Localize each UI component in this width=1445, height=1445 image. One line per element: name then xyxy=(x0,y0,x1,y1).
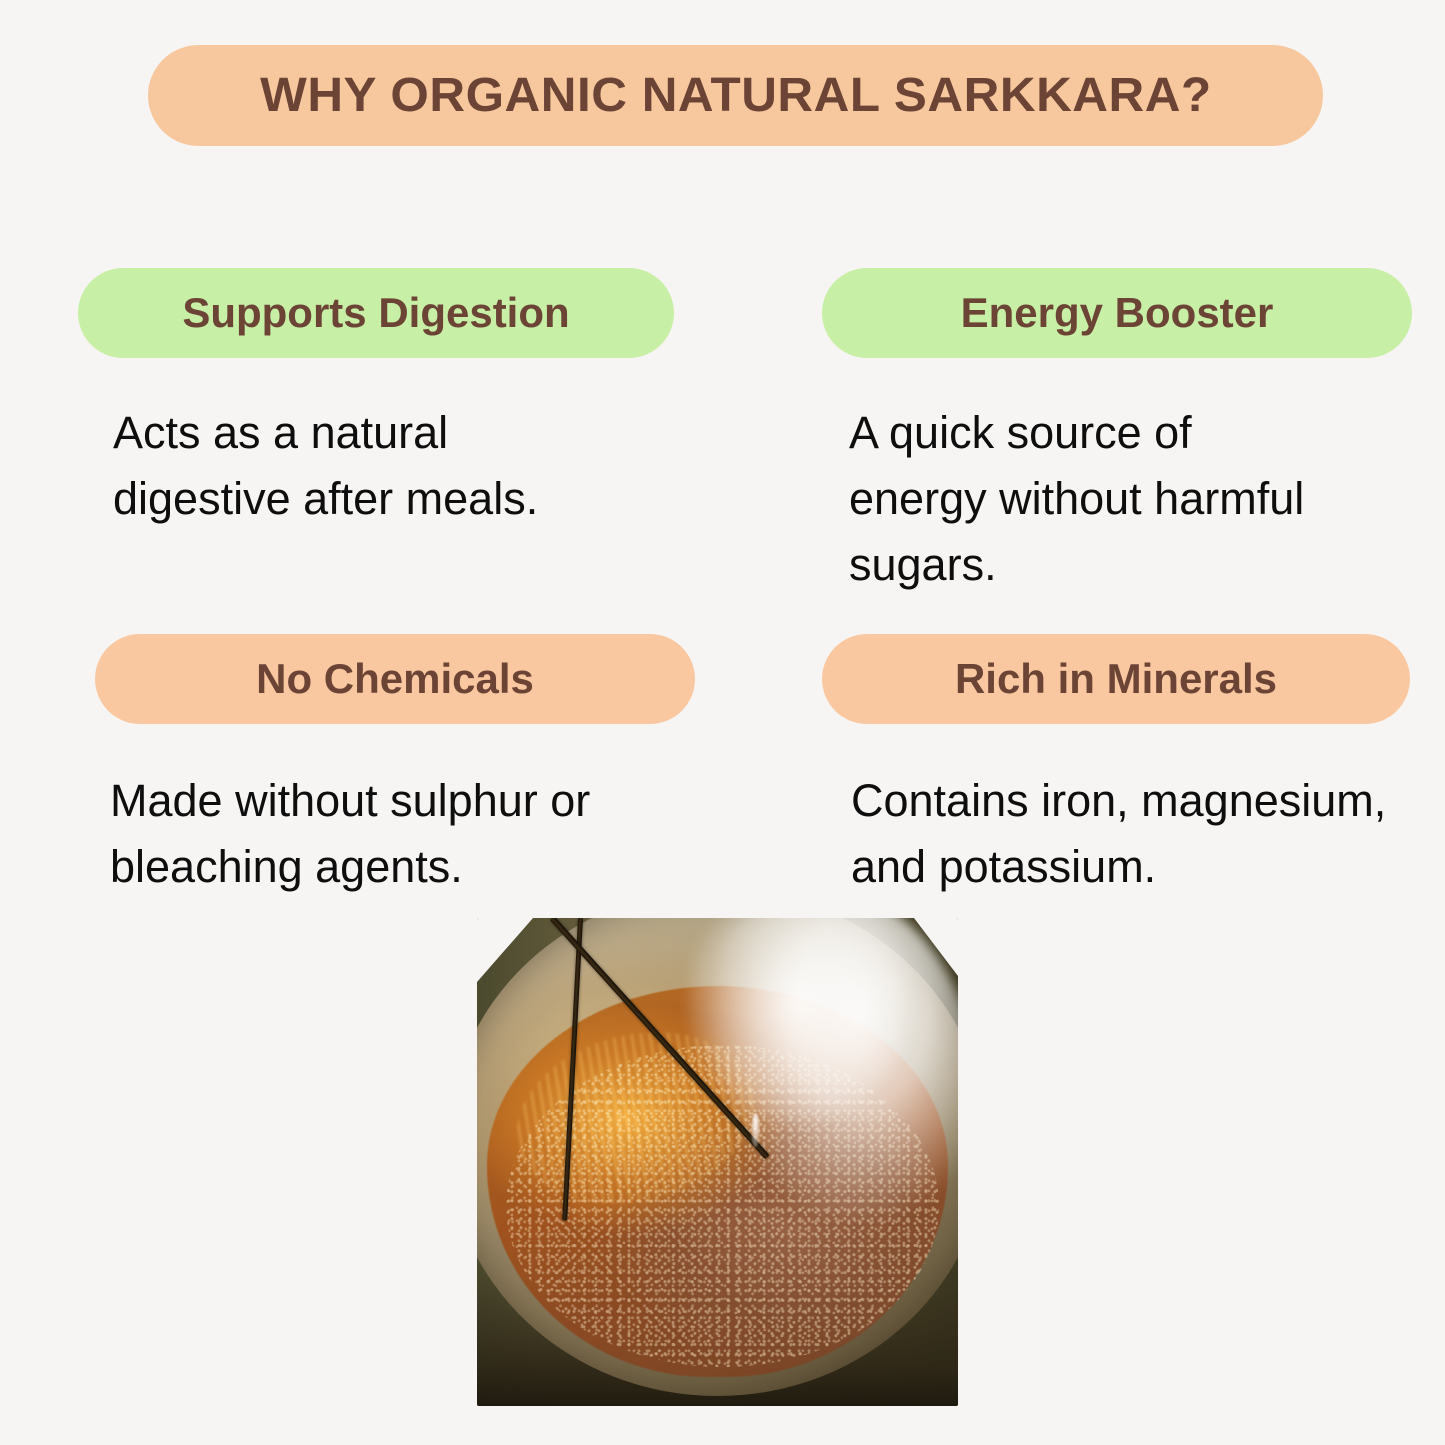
infographic-poster: WHY ORGANIC NATURAL SARKKARA? Supports D… xyxy=(0,0,1445,1445)
benefit-label-rich-in-minerals: Rich in Minerals xyxy=(955,655,1277,703)
benefit-pill-rich-in-minerals: Rich in Minerals xyxy=(822,634,1410,724)
benefit-description-supports-digestion: Acts as a natural digestive after meals. xyxy=(113,400,733,532)
jaggery-boiling-photo xyxy=(477,918,958,1406)
photo-base xyxy=(477,918,958,1406)
benefit-label-no-chemicals: No Chemicals xyxy=(256,655,534,703)
benefit-label-supports-digestion: Supports Digestion xyxy=(182,289,569,337)
benefit-pill-energy-booster: Energy Booster xyxy=(822,268,1412,358)
benefit-pill-no-chemicals: No Chemicals xyxy=(95,634,695,724)
benefit-description-no-chemicals: Made without sulphur or bleaching agents… xyxy=(110,768,750,900)
benefit-pill-supports-digestion: Supports Digestion xyxy=(78,268,674,358)
benefit-label-energy-booster: Energy Booster xyxy=(961,289,1274,337)
poster-title-pill: WHY ORGANIC NATURAL SARKKARA? xyxy=(148,45,1323,146)
benefit-description-rich-in-minerals: Contains iron, magnesium, and potassium. xyxy=(851,768,1445,900)
page-title: WHY ORGANIC NATURAL SARKKARA? xyxy=(260,68,1212,123)
benefit-description-energy-booster: A quick source of energy without harmful… xyxy=(849,400,1429,598)
